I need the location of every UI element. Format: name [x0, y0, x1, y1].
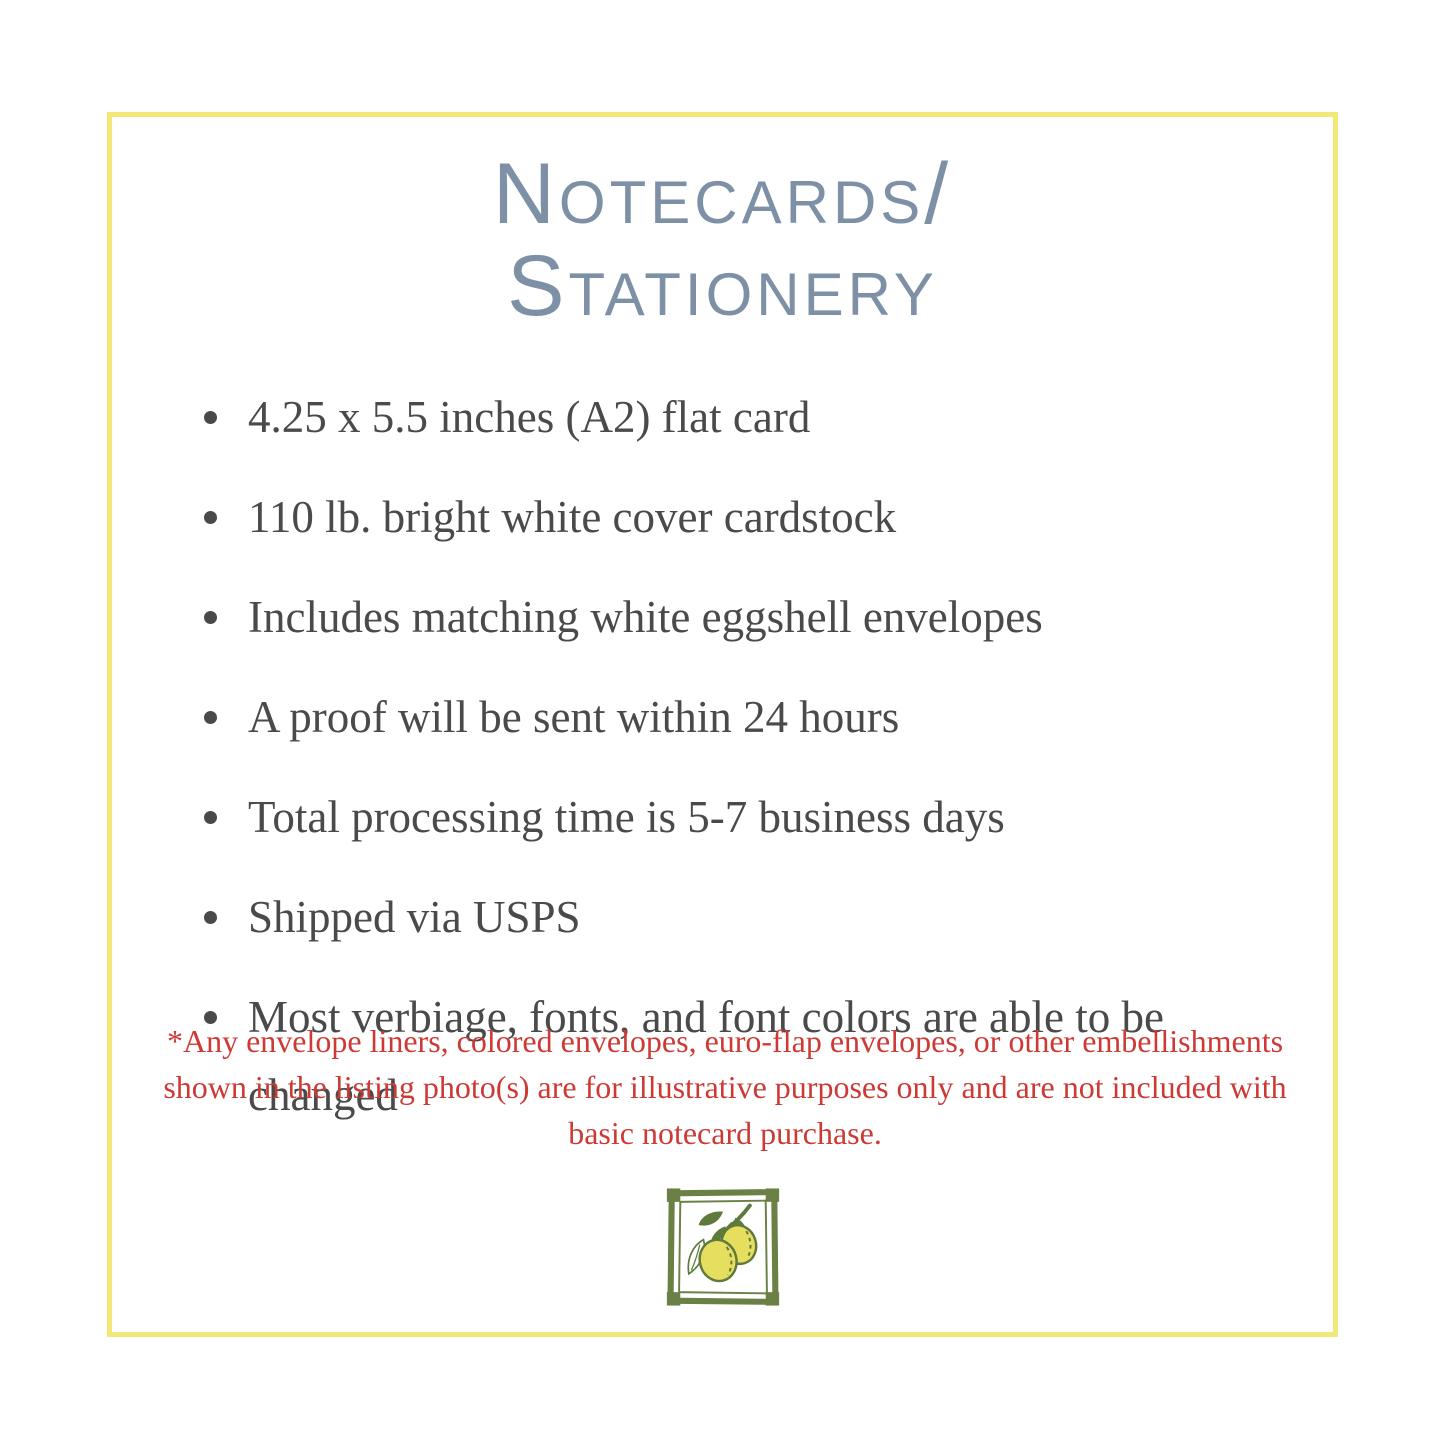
bullet-dot-icon [204, 911, 217, 924]
logo-container [0, 1186, 1445, 1308]
list-item-label: Total processing time is 5-7 business da… [248, 792, 1005, 842]
bullet-dot-icon [204, 611, 217, 624]
list-item-label: 110 lb. bright white cover cardstock [248, 492, 896, 542]
list-item: 110 lb. bright white cover cardstock [196, 478, 1286, 556]
bullet-dot-icon [204, 711, 217, 724]
list-item: A proof will be sent within 24 hours [196, 678, 1286, 756]
list-item: Total processing time is 5-7 business da… [196, 778, 1286, 856]
list-item-label: 4.25 x 5.5 inches (A2) flat card [248, 392, 810, 442]
list-item-label: Shipped via USPS [248, 892, 581, 942]
bullet-dot-icon [204, 511, 217, 524]
lemon-branch-framed-logo-icon [662, 1186, 784, 1308]
list-item: 4.25 x 5.5 inches (A2) flat card [196, 378, 1286, 456]
disclaimer-text: *Any envelope liners, colored envelopes,… [160, 1018, 1290, 1156]
bullet-dot-icon [204, 811, 217, 824]
list-item-label: Includes matching white eggshell envelop… [248, 592, 1043, 642]
notecard-info-graphic: Notecards/ Stationery 4.25 x 5.5 inches … [0, 0, 1445, 1445]
list-item-label: A proof will be sent within 24 hours [248, 692, 899, 742]
bullet-dot-icon [204, 411, 217, 424]
list-item: Shipped via USPS [196, 878, 1286, 956]
page-title: Notecards/ Stationery [107, 148, 1338, 332]
list-item: Includes matching white eggshell envelop… [196, 578, 1286, 656]
